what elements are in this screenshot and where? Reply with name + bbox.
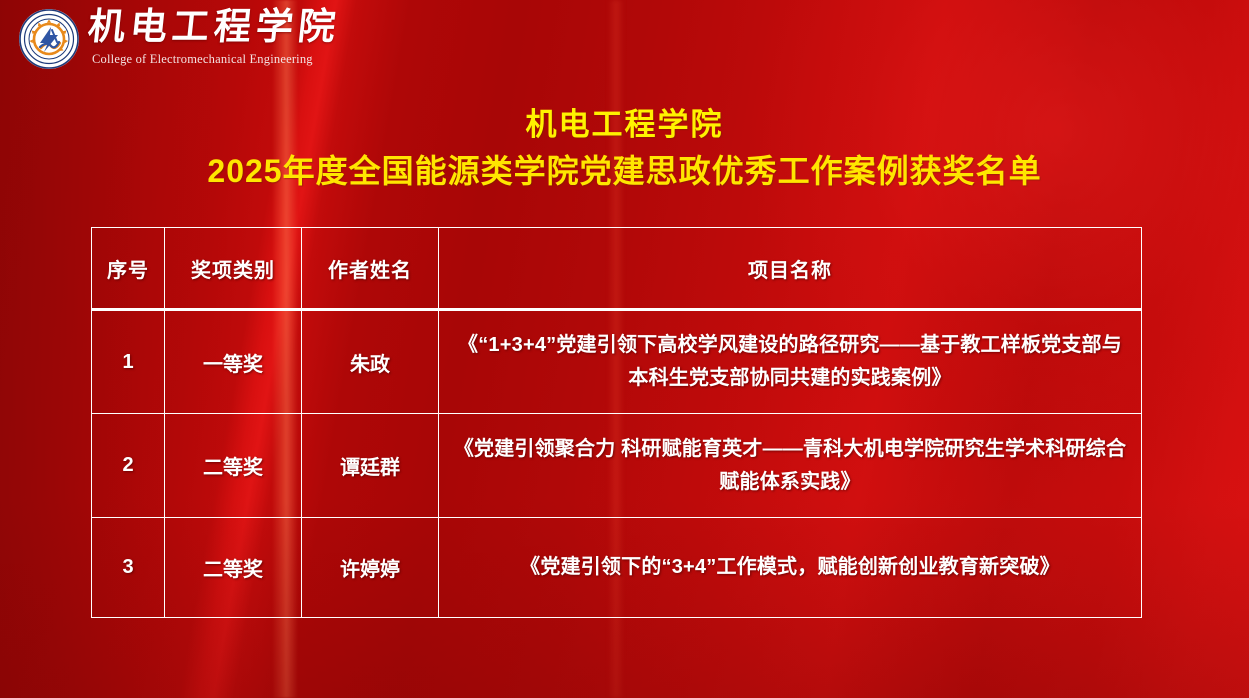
column-header-author: 作者姓名 [302,228,439,310]
cell-project: 《“1+3+4”党建引领下高校学风建设的路径研究——基于教工样板党支部与本科生党… [439,310,1142,414]
cell-author: 谭廷群 [302,414,439,518]
table-row: 2 二等奖 谭廷群 《党建引领聚合力 科研赋能育英才——青科大机电学院研究生学术… [92,414,1142,518]
institution-name-en: College of Electromechanical Engineering [92,51,340,67]
cell-no: 2 [92,414,165,518]
brand-text: 机电工程学院 College of Electromechanical Engi… [88,6,340,67]
table-body: 1 一等奖 朱政 《“1+3+4”党建引领下高校学风建设的路径研究——基于教工样… [92,310,1142,618]
table-header: 序号 奖项类别 作者姓名 项目名称 [92,228,1142,310]
page-title-secondary: 2025年度全国能源类学院党建思政优秀工作案例获奖名单 [0,148,1249,194]
cell-no: 1 [92,310,165,414]
cell-award: 二等奖 [165,414,302,518]
college-seal-icon [18,8,80,70]
cell-no: 3 [92,518,165,618]
cell-award: 一等奖 [165,310,302,414]
cell-author: 朱政 [302,310,439,414]
slide-canvas: 机电工程学院 College of Electromechanical Engi… [0,0,1249,698]
cell-award: 二等奖 [165,518,302,618]
column-header-no: 序号 [92,228,165,310]
page-title-primary: 机电工程学院 [0,104,1249,146]
column-header-project: 项目名称 [439,228,1142,310]
slide-title-block: 机电工程学院 2025年度全国能源类学院党建思政优秀工作案例获奖名单 [0,104,1249,194]
cell-project: 《党建引领下的“3+4”工作模式，赋能创新创业教育新突破》 [439,518,1142,618]
institution-name-cn: 机电工程学院 [86,6,343,50]
award-list-table: 序号 奖项类别 作者姓名 项目名称 1 一等奖 朱政 《“1+3+4”党建引领下… [91,227,1142,618]
cell-author: 许婷婷 [302,518,439,618]
table-row: 1 一等奖 朱政 《“1+3+4”党建引领下高校学风建设的路径研究——基于教工样… [92,310,1142,414]
column-header-award: 奖项类别 [165,228,302,310]
table-row: 3 二等奖 许婷婷 《党建引领下的“3+4”工作模式，赋能创新创业教育新突破》 [92,518,1142,618]
brand-logo-block: 机电工程学院 College of Electromechanical Engi… [18,6,340,80]
table-header-row: 序号 奖项类别 作者姓名 项目名称 [92,228,1142,310]
cell-project: 《党建引领聚合力 科研赋能育英才——青科大机电学院研究生学术科研综合赋能体系实践… [439,414,1142,518]
